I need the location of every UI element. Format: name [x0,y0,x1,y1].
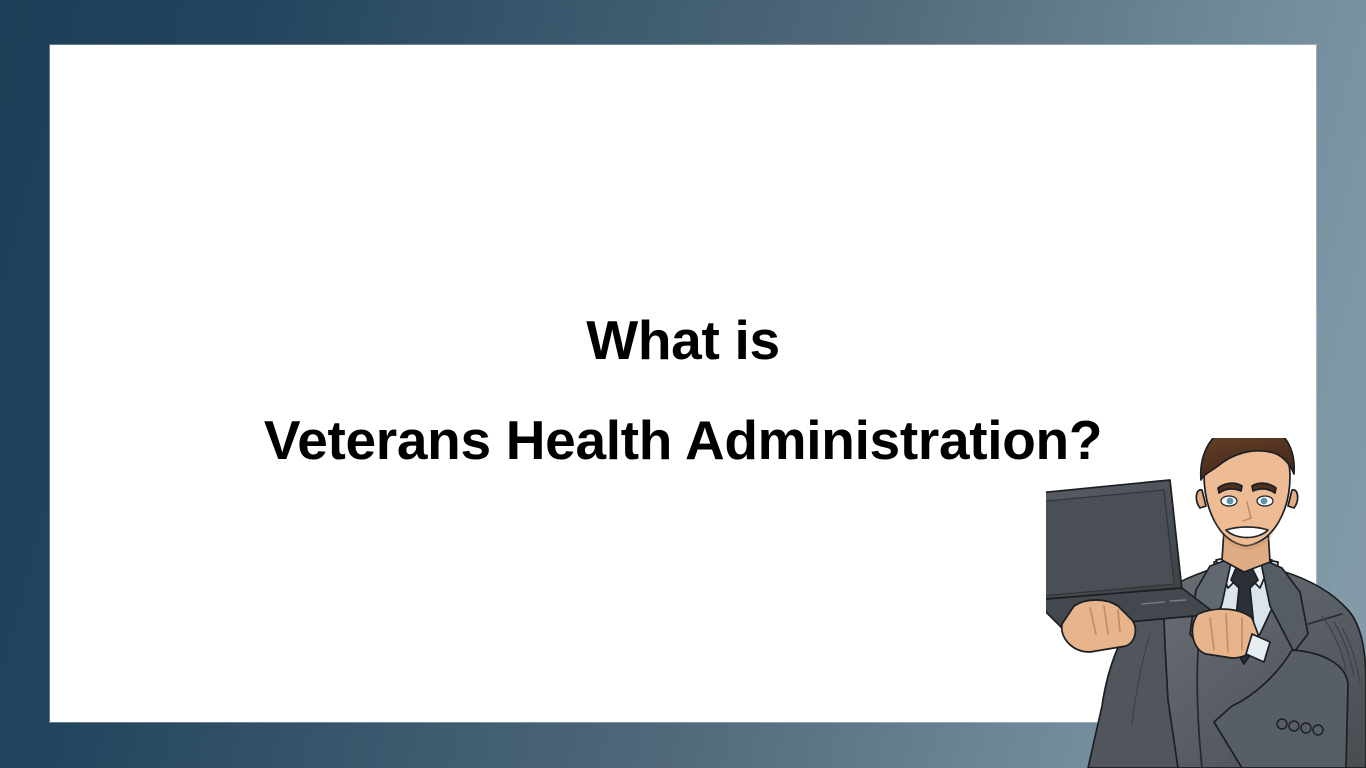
title-line-1: What is [50,290,1316,390]
slide-content-panel: What is Veterans Health Administration? [50,45,1316,722]
slide-canvas: What is Veterans Health Administration? [0,0,1366,768]
slide-title: What is Veterans Health Administration? [50,290,1316,490]
title-line-2: Veterans Health Administration? [50,390,1316,490]
